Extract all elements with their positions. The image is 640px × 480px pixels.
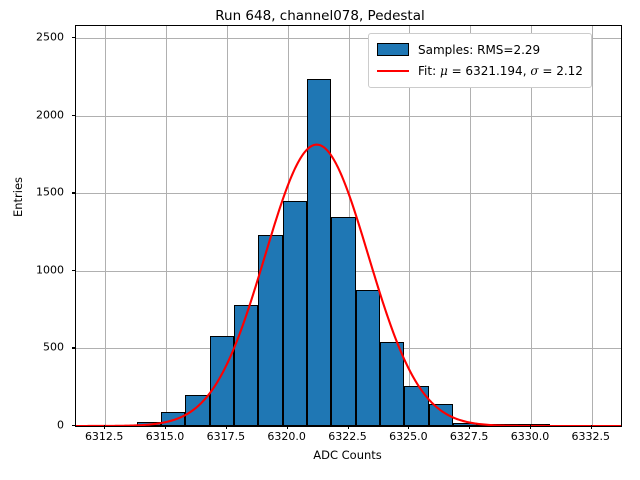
x-tick-mark [591,425,592,429]
x-tick-mark [348,425,349,429]
legend-label-fit: Fit: μ = 6321.194, σ = 2.12 [418,64,583,78]
y-tick-mark [72,115,76,116]
y-tick-mark [72,425,76,426]
x-tick-mark [226,425,227,429]
legend-sigma-symbol: σ [530,64,538,78]
legend-sigma-value: = 2.12 [539,64,583,78]
legend-entry-samples: Samples: RMS=2.29 [377,39,583,60]
y-tick-mark [72,347,76,348]
x-tick-label: 6332.5 [572,430,611,443]
x-tick-label: 6317.5 [207,430,246,443]
legend-mu-symbol: μ [440,64,448,78]
y-tick-mark [72,192,76,193]
x-tick-label: 6327.5 [450,430,489,443]
y-tick-label: 0 [0,419,64,432]
chart-title: Run 648, channel078, Pedestal [0,8,640,24]
x-tick-mark [287,425,288,429]
legend-mu-value: = 6321.194, [448,64,531,78]
x-tick-label: 6325.0 [389,430,428,443]
x-axis-label: ADC Counts [75,448,620,462]
y-axis-label: Entries [11,147,25,247]
x-tick-mark [530,425,531,429]
x-tick-label: 6330.0 [511,430,550,443]
y-tick-label: 1500 [0,186,64,199]
figure-canvas: Run 648, channel078, Pedestal 6312.56315… [0,0,640,480]
y-tick-label: 2500 [0,31,64,44]
chart-legend: Samples: RMS=2.29 Fit: μ = 6321.194, σ =… [368,33,592,88]
x-tick-mark [165,425,166,429]
y-tick-label: 2000 [0,108,64,121]
x-tick-label: 6315.0 [146,430,185,443]
legend-fit-prefix: Fit: [418,64,440,78]
x-tick-label: 6322.5 [328,430,367,443]
x-tick-mark [104,425,105,429]
y-tick-mark [72,270,76,271]
legend-label-samples: Samples: RMS=2.29 [418,43,540,57]
y-tick-mark [72,37,76,38]
legend-patch-swatch-icon [377,43,409,56]
legend-entry-fit: Fit: μ = 6321.194, σ = 2.12 [377,60,583,81]
x-tick-label: 6320.0 [267,430,306,443]
y-tick-label: 500 [0,341,64,354]
x-tick-label: 6312.5 [85,430,124,443]
legend-line-swatch-icon [377,70,409,72]
x-tick-mark [408,425,409,429]
x-tick-mark [469,425,470,429]
y-tick-label: 1000 [0,263,64,276]
